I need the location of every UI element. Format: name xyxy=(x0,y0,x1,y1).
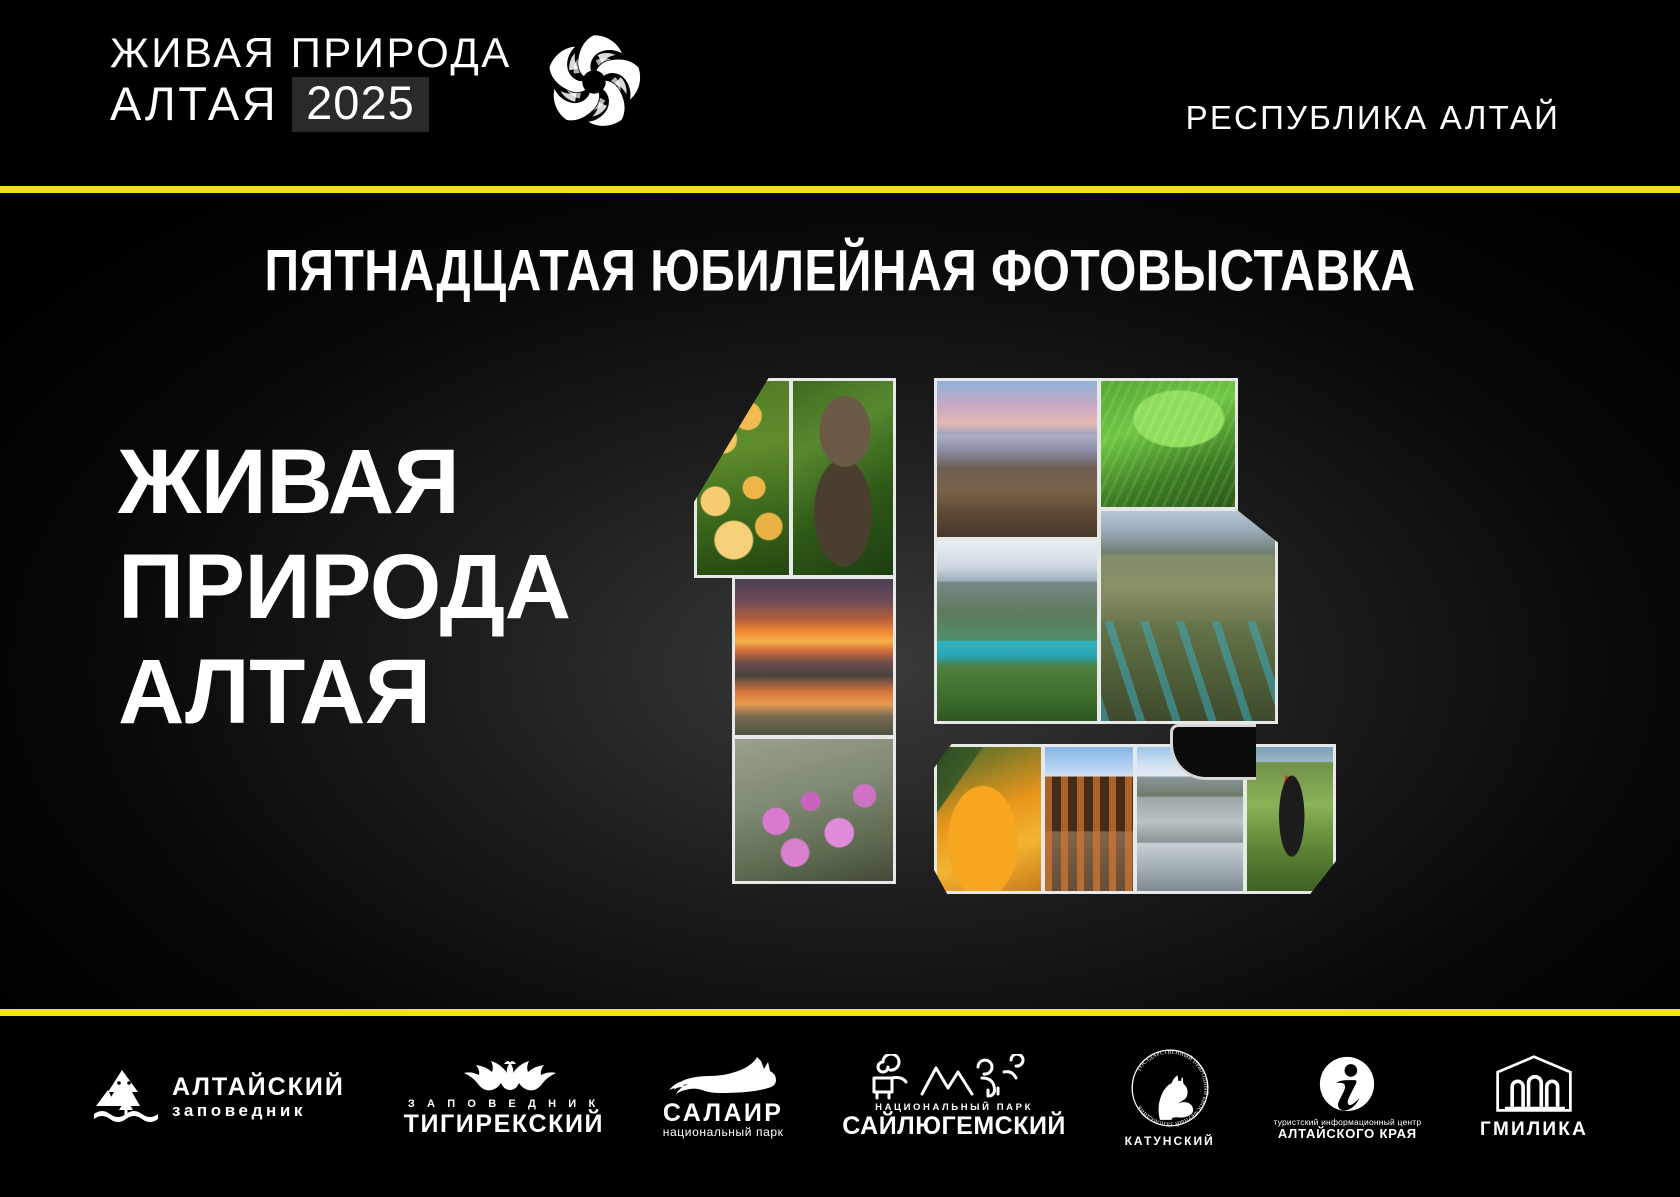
logo-text-gmilika: ГМИЛИКА xyxy=(1480,1117,1588,1140)
photo-tile-mountain-dawn xyxy=(934,378,1100,540)
logo-sub-salair: национальный парк xyxy=(663,1126,784,1139)
numeral-15-collage xyxy=(672,348,1472,888)
photo-black-stork xyxy=(1247,747,1333,891)
photo-tile-black-stork xyxy=(1244,744,1336,894)
mountain-tree-water-icon xyxy=(92,1066,162,1128)
altai-swirl-emblem-icon xyxy=(540,28,648,136)
logo-main-tigireksky: ТИГИРЕКСКИЙ xyxy=(404,1111,605,1137)
brand-line-2-row: АЛТАЯ 2025 xyxy=(110,77,512,132)
divider-rule-bottom xyxy=(0,1009,1680,1016)
logo-main-salair: САЛАИР xyxy=(663,1100,784,1126)
photo-tile-river-bend xyxy=(1098,508,1278,724)
page-title: ЖИВАЯ ПРИРОДА АЛТАЯ xyxy=(118,430,571,745)
logo-text-katunsky: КАТУНСКИЙ xyxy=(1125,1133,1215,1148)
brand-wordmark: ЖИВАЯ ПРИРОДА АЛТАЯ 2025 xyxy=(110,32,512,132)
divider-rule-top xyxy=(0,186,1680,193)
brand-year-chip: 2025 xyxy=(292,77,429,132)
logo-main-sailugemsky: САЙЛЮГЕМСКИЙ xyxy=(842,1113,1066,1139)
photo-mountain-dawn xyxy=(937,381,1097,537)
logo-altaisky-zapovednik[interactable]: АЛТАЙСКИЙ заповедник xyxy=(92,1066,345,1128)
logo-text-altaisky: АЛТАЙСКИЙ заповедник xyxy=(172,1074,345,1119)
title-line-1: ЖИВАЯ xyxy=(118,430,571,535)
brand-line-1: ЖИВАЯ ПРИРОДА xyxy=(110,32,512,75)
info-i-icon xyxy=(1316,1053,1378,1115)
petroglyph-icon xyxy=(864,1054,1044,1100)
logo-text-salair: САЛАИР национальный парк xyxy=(663,1100,784,1139)
photo-sunset-lake xyxy=(735,579,893,735)
logo-sub-altaisky: заповедник xyxy=(172,1102,345,1120)
brand-lockup: ЖИВАЯ ПРИРОДА АЛТАЯ 2025 xyxy=(110,28,648,136)
poster-header: ЖИВАЯ ПРИРОДА АЛТАЯ 2025 xyxy=(0,0,1680,186)
logo-main-altaisky: АЛТАЙСКИЙ xyxy=(172,1074,345,1100)
logo-text-tic: туристский информационный центр АЛТАЙСКО… xyxy=(1273,1118,1421,1141)
brand-line-2: АЛТАЯ xyxy=(110,80,278,128)
poster-footer: АЛТАЙСКИЙ заповедник З А П О В Е Д Н И К… xyxy=(0,1016,1680,1197)
region-label: РЕСПУБЛИКА АЛТАЙ xyxy=(1186,99,1560,137)
photo-fern xyxy=(1101,381,1235,507)
logo-main-gmilika: ГМИЛИКА xyxy=(1480,1120,1588,1140)
photo-bear xyxy=(793,381,893,575)
photo-beetle xyxy=(937,747,1041,891)
photo-larch-forest xyxy=(1045,747,1133,891)
photo-tile-lake-valley xyxy=(934,538,1100,724)
photo-lake-valley xyxy=(937,541,1097,721)
photo-tile-bear xyxy=(790,378,896,578)
logo-tigireksky-zapovednik[interactable]: З А П О В Е Д Н И К ТИГИРЕКСКИЙ xyxy=(404,1056,605,1137)
numeral-inner-notch xyxy=(1170,724,1256,780)
photo-river-bend xyxy=(1101,511,1275,721)
title-line-2: ПРИРОДА xyxy=(118,535,571,640)
photo-orchid xyxy=(697,381,789,575)
logo-main-tic: АЛТАЙСКОГО КРАЯ xyxy=(1273,1127,1421,1141)
photo-tile-fern xyxy=(1098,378,1238,510)
exhibition-headline: ПЯТНАДЦАТАЯ ЮБИЛЕЙНАЯ ФОТОВЫСТАВКА xyxy=(0,238,1680,305)
logo-sailugemsky-national-park[interactable]: НАЦИОНАЛЬНЫЙ ПАРК САЙЛЮГЕМСКИЙ xyxy=(842,1054,1066,1139)
logo-text-tigireksky: З А П О В Е Д Н И К ТИГИРЕКСКИЙ xyxy=(404,1099,605,1137)
photo-rhododendron xyxy=(735,739,893,881)
arched-building-icon xyxy=(1492,1054,1576,1114)
lynx-icon xyxy=(665,1055,781,1097)
logo-main-katunsky: КАТУНСКИЙ xyxy=(1125,1135,1215,1148)
title-line-3: АЛТАЯ xyxy=(118,640,571,745)
logo-salair-national-park[interactable]: САЛАИР национальный парк xyxy=(663,1055,784,1139)
logo-text-sailugemsky: НАЦИОНАЛЬНЫЙ ПАРК САЙЛЮГЕМСКИЙ xyxy=(842,1103,1066,1139)
photo-tile-rhododendron xyxy=(732,736,896,884)
poster-root: ЖИВАЯ ПРИРОДА АЛТАЯ 2025 xyxy=(0,0,1680,1197)
logo-gmilika-museum[interactable]: ГМИЛИКА xyxy=(1480,1054,1588,1140)
logo-tourist-information-center[interactable]: туристский информационный центр АЛТАЙСКО… xyxy=(1273,1053,1421,1141)
logo-katunsky-zapovednik[interactable]: ГОСУДАРСТВЕННЫЙ ПРИРОДНЫЙ БИОСФЕРНЫЙ ЗАП… xyxy=(1125,1046,1215,1148)
photo-tile-sunset-lake xyxy=(732,576,896,738)
photo-tile-orchid xyxy=(694,378,792,578)
partner-logo-row: АЛТАЙСКИЙ заповедник З А П О В Е Д Н И К… xyxy=(0,1046,1680,1148)
photo-tile-beetle xyxy=(934,744,1044,894)
photo-tile-larch-forest xyxy=(1042,744,1136,894)
bat-icon xyxy=(444,1056,564,1096)
snow-leopard-seal-icon: ГОСУДАРСТВЕННЫЙ ПРИРОДНЫЙ БИОСФЕРНЫЙ ЗАП… xyxy=(1128,1046,1212,1130)
